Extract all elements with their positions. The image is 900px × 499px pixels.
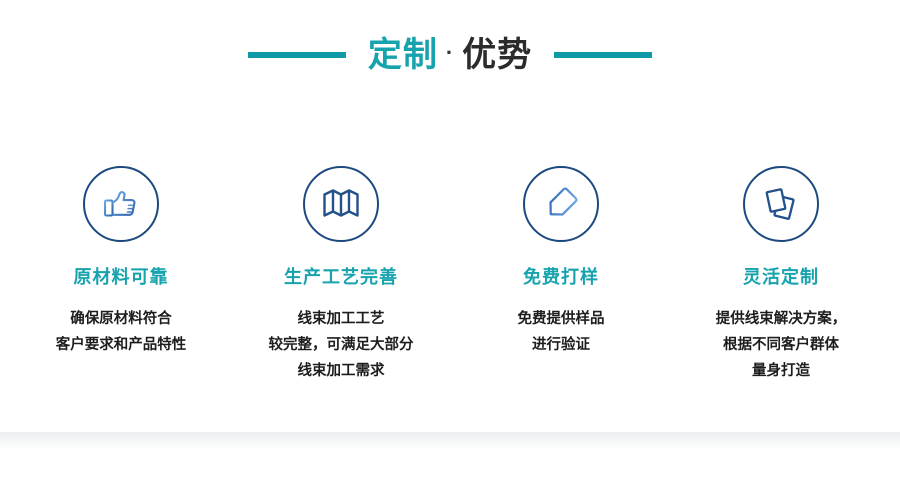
page-title-secondary: 优势: [462, 38, 532, 72]
heading-rule-left: [248, 52, 346, 58]
card-title: 原材料可靠: [74, 268, 169, 286]
card-body-line: 量身打造: [688, 358, 874, 384]
card-body-line: 进行验证: [468, 332, 654, 358]
card-body-line: 免费提供样品: [468, 306, 654, 332]
card-body: 提供线束解决方案， 根据不同客户群体 量身打造: [688, 306, 874, 384]
page-title-separator: ·: [440, 42, 460, 64]
card-body: 线束加工工艺 较完整，可满足大部分 线束加工需求: [248, 306, 434, 384]
card-title: 免费打样: [523, 268, 599, 286]
card-body-line: 根据不同客户群体: [688, 332, 874, 358]
card-body-line: 客户要求和产品特性: [28, 332, 214, 358]
card-body: 免费提供样品 进行验证: [468, 306, 654, 358]
icon-ring: [303, 166, 379, 242]
icon-ring: [83, 166, 159, 242]
advantage-card[interactable]: 生产工艺完善 线束加工工艺 较完整，可满足大部分 线束加工需求: [240, 144, 442, 432]
card-body-line: 线束加工需求: [248, 358, 434, 384]
folded-map-icon: [321, 184, 361, 224]
card-title: 灵活定制: [743, 268, 819, 286]
section-heading: 定制 · 优势: [0, 26, 900, 84]
advantage-card-list: 原材料可靠 确保原材料符合 客户要求和产品特性 生产工艺完善 线束加工工艺 较完…: [20, 144, 884, 432]
card-body-line: 较完整，可满足大部分: [248, 332, 434, 358]
thumbs-up-icon: [100, 183, 142, 225]
stacked-cards-icon: [760, 183, 802, 225]
heading-rule-right: [554, 52, 652, 58]
page-title-primary: 定制: [368, 38, 438, 72]
icon-ring: [743, 166, 819, 242]
card-body-line: 线束加工工艺: [248, 306, 434, 332]
pencil-icon: [540, 183, 582, 225]
advantage-card[interactable]: 免费打样 免费提供样品 进行验证: [460, 144, 662, 432]
advantage-card[interactable]: 灵活定制 提供线束解决方案， 根据不同客户群体 量身打造: [680, 144, 882, 432]
advantage-card[interactable]: 原材料可靠 确保原材料符合 客户要求和产品特性: [20, 144, 222, 432]
page-title: 定制 · 优势: [368, 38, 532, 72]
icon-ring: [523, 166, 599, 242]
card-title: 生产工艺完善: [284, 268, 398, 286]
card-body-line: 确保原材料符合: [28, 306, 214, 332]
card-body: 确保原材料符合 客户要求和产品特性: [28, 306, 214, 358]
advantages-section: 定制 · 优势: [0, 0, 900, 499]
card-body-line: 提供线束解决方案，: [688, 306, 874, 332]
